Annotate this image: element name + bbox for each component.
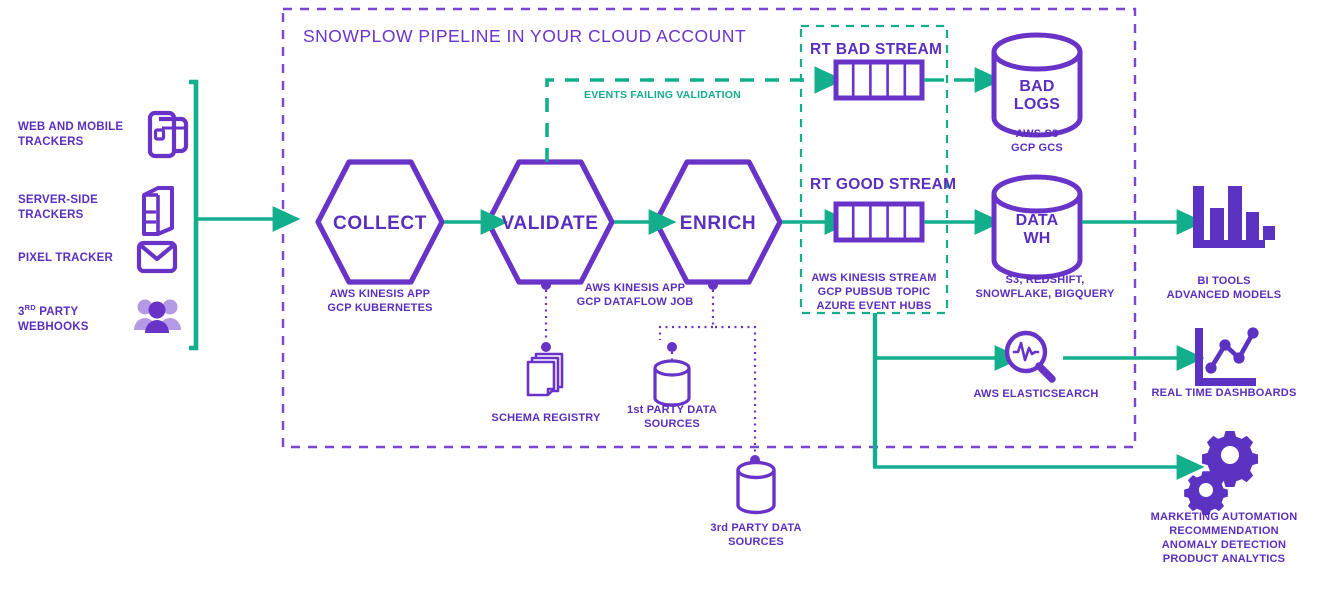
architecture-diagram: SNOWPLOW PIPELINE IN YOUR CLOUD ACCOUNT …: [0, 0, 1317, 592]
marketing-apps-label: MARKETING AUTOMATION RECOMMENDATION ANOM…: [1151, 510, 1298, 566]
bad-logs-line2: LOGS: [1014, 96, 1060, 113]
source-label-third-party-webhooks: 3RD PARTY WEBHOOKS: [18, 303, 89, 334]
database-icon: [655, 361, 689, 405]
events-failing-validation-label: EVENTS FAILING VALIDATION: [584, 89, 741, 102]
sources-bracket: [189, 82, 196, 348]
bad-logs-label: BADLOGS: [1014, 78, 1060, 115]
data-wh-line1: DATA: [1016, 212, 1059, 229]
bad-logs-caption: AWS S3 GCP GCS: [1011, 127, 1063, 155]
people-icon: [134, 300, 181, 334]
bi-tools-label: BI TOOLS ADVANCED MODELS: [1167, 274, 1282, 302]
database-icon: [738, 463, 774, 513]
bar-chart-icon: [1193, 186, 1275, 248]
schema-registry-connector: [541, 280, 551, 352]
rt-good-stream-title: RT GOOD STREAM: [810, 175, 956, 195]
schema-registry-label: SCHEMA REGISTRY: [491, 411, 600, 425]
streams-container-caption: AWS KINESIS STREAM GCP PUBSUB TOPIC AZUR…: [811, 271, 936, 313]
third-party-webhooks-ordinal: RD: [25, 303, 36, 312]
stage-caption-collect: AWS KINESIS APP GCP KUBERNETES: [327, 287, 432, 315]
stage-label-validate: VALIDATE: [502, 212, 599, 236]
documents-icon: [528, 354, 562, 395]
first-party-data-connector: [667, 342, 677, 362]
stage-label-enrich: ENRICH: [680, 212, 756, 236]
first-party-data-sources-label: 1st PARTY DATA SOURCES: [627, 403, 717, 431]
source-label-pixel-tracker: PIXEL TRACKER: [18, 251, 113, 266]
line-chart-icon: [1199, 327, 1259, 382]
data-wh-label: DATAWH: [1016, 212, 1059, 249]
data-wh-line2: WH: [1023, 230, 1050, 247]
server-icon: [144, 188, 172, 234]
source-label-web-mobile-trackers: WEB AND MOBILE TRACKERS: [18, 120, 123, 149]
rt-bad-stream-title: RT BAD STREAM: [810, 40, 942, 60]
stage-caption-validate: AWS KINESIS APP GCP DATAFLOW JOB: [577, 281, 694, 309]
stage-label-collect: COLLECT: [333, 212, 427, 236]
envelope-icon: [139, 243, 175, 271]
data-wh-caption: S3, REDSHIFT, SNOWFLAKE, BIGQUERY: [975, 273, 1114, 301]
third-party-webhooks-prefix: 3: [18, 306, 25, 318]
rt-good-stream-box[interactable]: [836, 204, 922, 240]
magnifier-pulse-icon: [1007, 333, 1052, 379]
third-party-data-sources-label: 3rd PARTY DATA SOURCES: [710, 521, 801, 549]
pipeline-container-title: SNOWPLOW PIPELINE IN YOUR CLOUD ACCOUNT: [303, 25, 746, 47]
real-time-dashboards-label: REAL TIME DASHBOARDS: [1152, 386, 1297, 400]
rt-bad-stream-box[interactable]: [836, 62, 922, 98]
gears-icon: [1184, 431, 1258, 515]
devices-icon: [150, 113, 186, 156]
aws-elasticsearch-label: AWS ELASTICSEARCH: [973, 387, 1098, 401]
source-label-server-side-trackers: SERVER-SIDE TRACKERS: [18, 193, 98, 222]
bad-logs-line1: BAD: [1019, 78, 1054, 95]
